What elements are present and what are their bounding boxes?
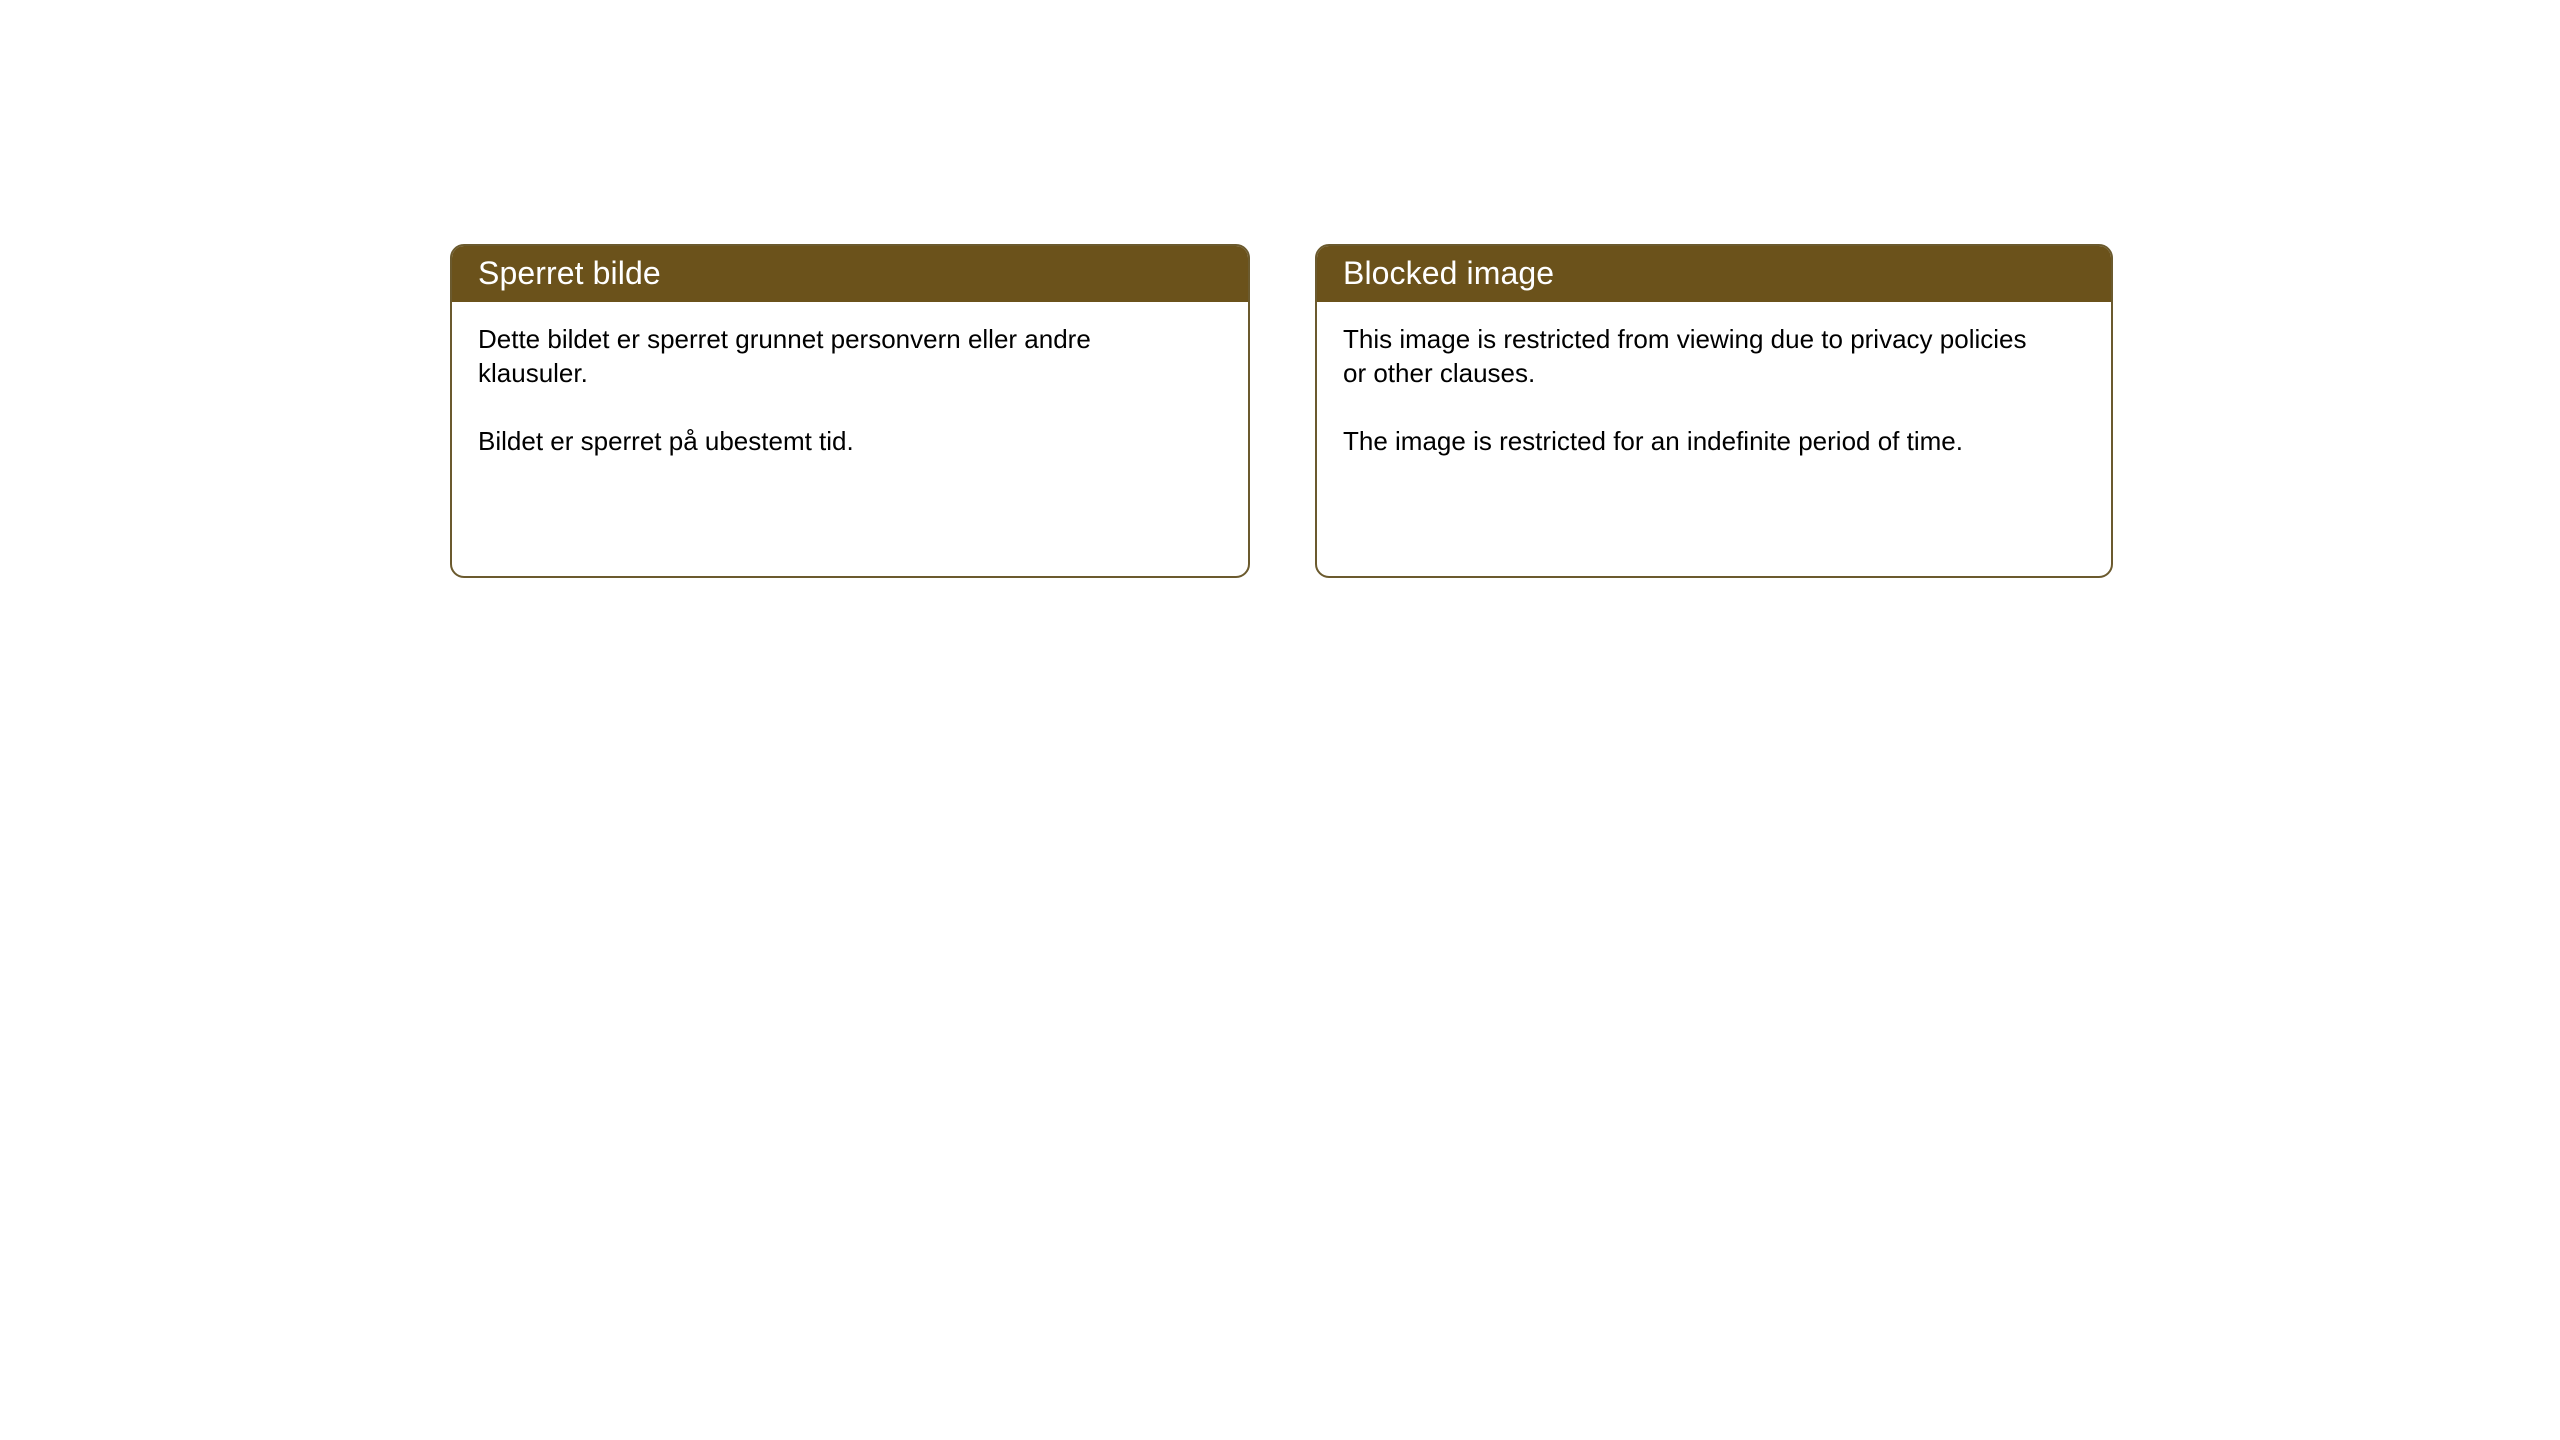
card-body-norwegian: Dette bildet er sperret grunnet personve… <box>452 302 1248 458</box>
card-paragraph-secondary-norwegian: Bildet er sperret på ubestemt tid. <box>478 424 1178 458</box>
blocked-image-card-english: Blocked image This image is restricted f… <box>1315 244 2113 578</box>
card-header-norwegian: Sperret bilde <box>450 244 1250 302</box>
card-body-english: This image is restricted from viewing du… <box>1317 302 2111 458</box>
card-paragraph-primary-english: This image is restricted from viewing du… <box>1343 322 2043 390</box>
card-title-english: Blocked image <box>1343 257 1554 289</box>
card-paragraph-primary-norwegian: Dette bildet er sperret grunnet personve… <box>478 322 1178 390</box>
card-title-norwegian: Sperret bilde <box>478 257 661 289</box>
blocked-image-card-norwegian: Sperret bilde Dette bildet er sperret gr… <box>450 244 1250 578</box>
page-canvas: Sperret bilde Dette bildet er sperret gr… <box>0 0 2560 1440</box>
card-paragraph-secondary-english: The image is restricted for an indefinit… <box>1343 424 2043 458</box>
card-header-english: Blocked image <box>1315 244 2113 302</box>
